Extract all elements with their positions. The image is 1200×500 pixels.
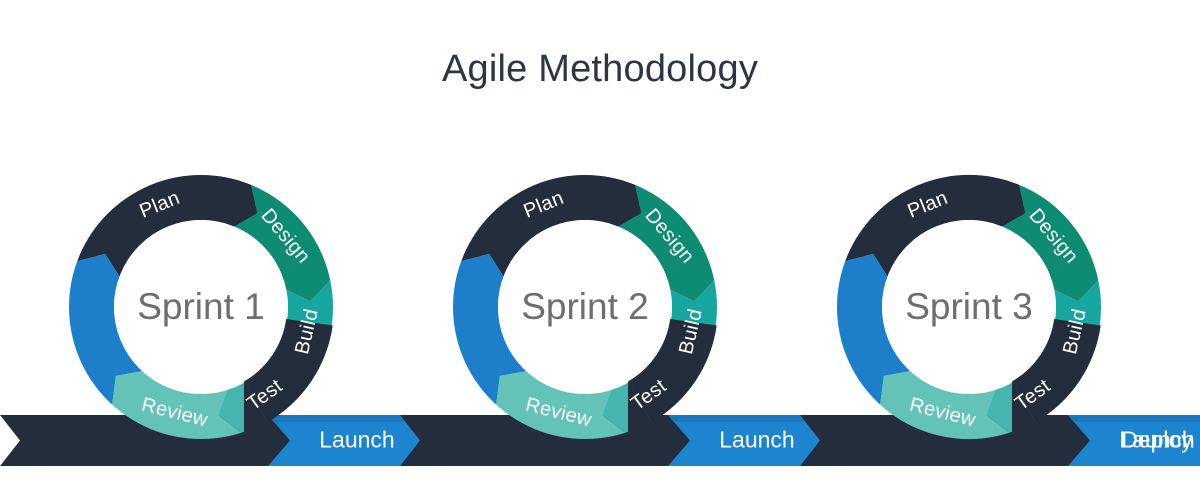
banner-label: Launch <box>719 427 794 453</box>
page-title: Agile Methodology <box>442 48 758 90</box>
banner-top-shade <box>668 415 812 422</box>
banner-label-alt: Deploy <box>1121 427 1193 453</box>
banner-top-shade <box>268 415 412 422</box>
diagram-canvas: Agile Methodology LaunchLaunchLaunchDepl… <box>0 0 1200 500</box>
banner-top-shade <box>1068 415 1200 422</box>
sprint-center-label: Sprint 2 <box>521 286 649 327</box>
banner-label: Launch <box>319 427 394 453</box>
sprint-center-label: Sprint 3 <box>905 286 1033 327</box>
sprint-center-label: Sprint 1 <box>137 286 265 327</box>
agile-methodology-diagram: Agile Methodology LaunchLaunchLaunchDepl… <box>0 0 1200 500</box>
